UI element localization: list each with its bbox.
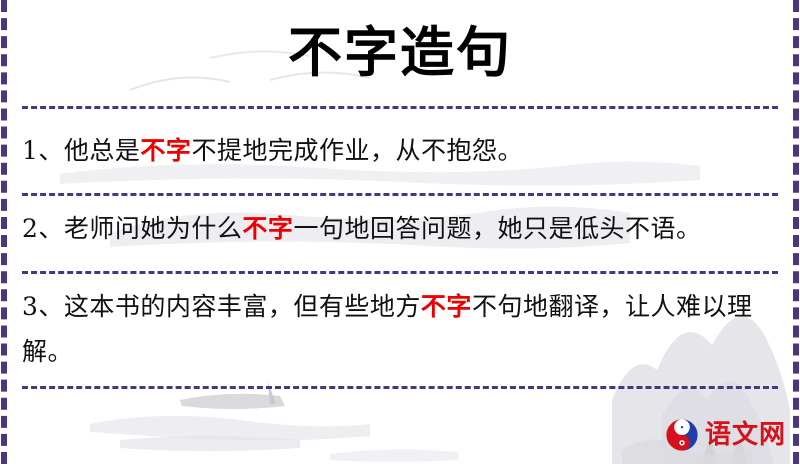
sentence-item-1: 1、他总是不字不提地完成作业，从不抱怨。 bbox=[22, 128, 784, 173]
sentence-text-after-2: 一句地回答问题，她只是低头不语。 bbox=[293, 214, 701, 243]
divider-rule-3 bbox=[22, 271, 778, 274]
keyword-highlight-3: 不字 bbox=[421, 292, 472, 321]
worksheet-page: 不字造句 1、他总是不字不提地完成作业，从不抱怨。 2、老师问她为什么不字一句地… bbox=[0, 0, 800, 464]
sentence-text-before-2: 老师问她为什么 bbox=[64, 214, 243, 243]
keyword-highlight-1: 不字 bbox=[140, 136, 191, 165]
sentence-item-2: 2、老师问她为什么不字一句地回答问题，她只是低头不语。 bbox=[22, 206, 784, 251]
sentence-text-after-1: 不提地完成作业，从不抱怨。 bbox=[191, 136, 523, 165]
sentence-item-3: 3、这本书的内容丰富，但有些地方不字不句地翻译，让人难以理解。 bbox=[22, 284, 784, 374]
sentence-index-3: 3、 bbox=[22, 292, 64, 321]
site-logo[interactable]: 语文网 bbox=[665, 418, 786, 452]
sentence-index-2: 2、 bbox=[22, 214, 64, 243]
divider-rule-4 bbox=[22, 386, 778, 389]
sentence-text-before-3: 这本书的内容丰富，但有些地方 bbox=[64, 292, 421, 321]
sentence-text-before-1: 他总是 bbox=[64, 136, 141, 165]
page-title: 不字造句 bbox=[0, 16, 800, 88]
yinyang-logo-icon bbox=[665, 418, 699, 452]
sentence-index-1: 1、 bbox=[22, 136, 64, 165]
keyword-highlight-2: 不字 bbox=[242, 214, 293, 243]
divider-rule-1 bbox=[22, 106, 778, 109]
site-logo-text: 语文网 bbox=[705, 420, 786, 450]
divider-rule-2 bbox=[22, 193, 778, 196]
